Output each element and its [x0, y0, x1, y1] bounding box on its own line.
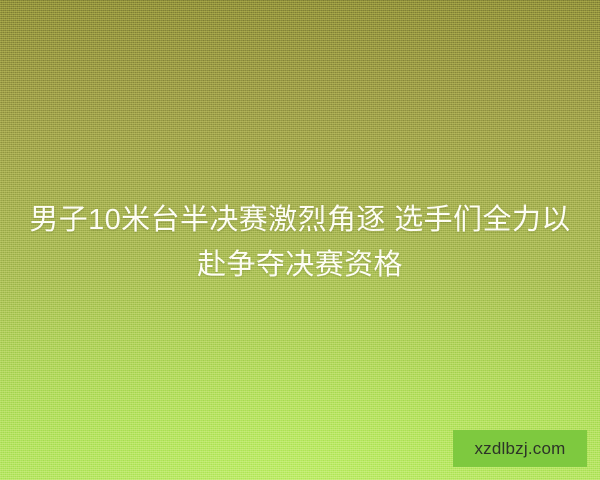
watermark-badge: xzdlbzj.com — [453, 430, 587, 467]
headline-text: 男子10米台半决赛激烈角逐 选手们全力以赴争夺决赛资格 — [28, 198, 572, 288]
image-card: 男子10米台半决赛激烈角逐 选手们全力以赴争夺决赛资格 xzdlbzj.com — [0, 0, 600, 480]
watermark-label: xzdlbzj.com — [474, 440, 565, 457]
